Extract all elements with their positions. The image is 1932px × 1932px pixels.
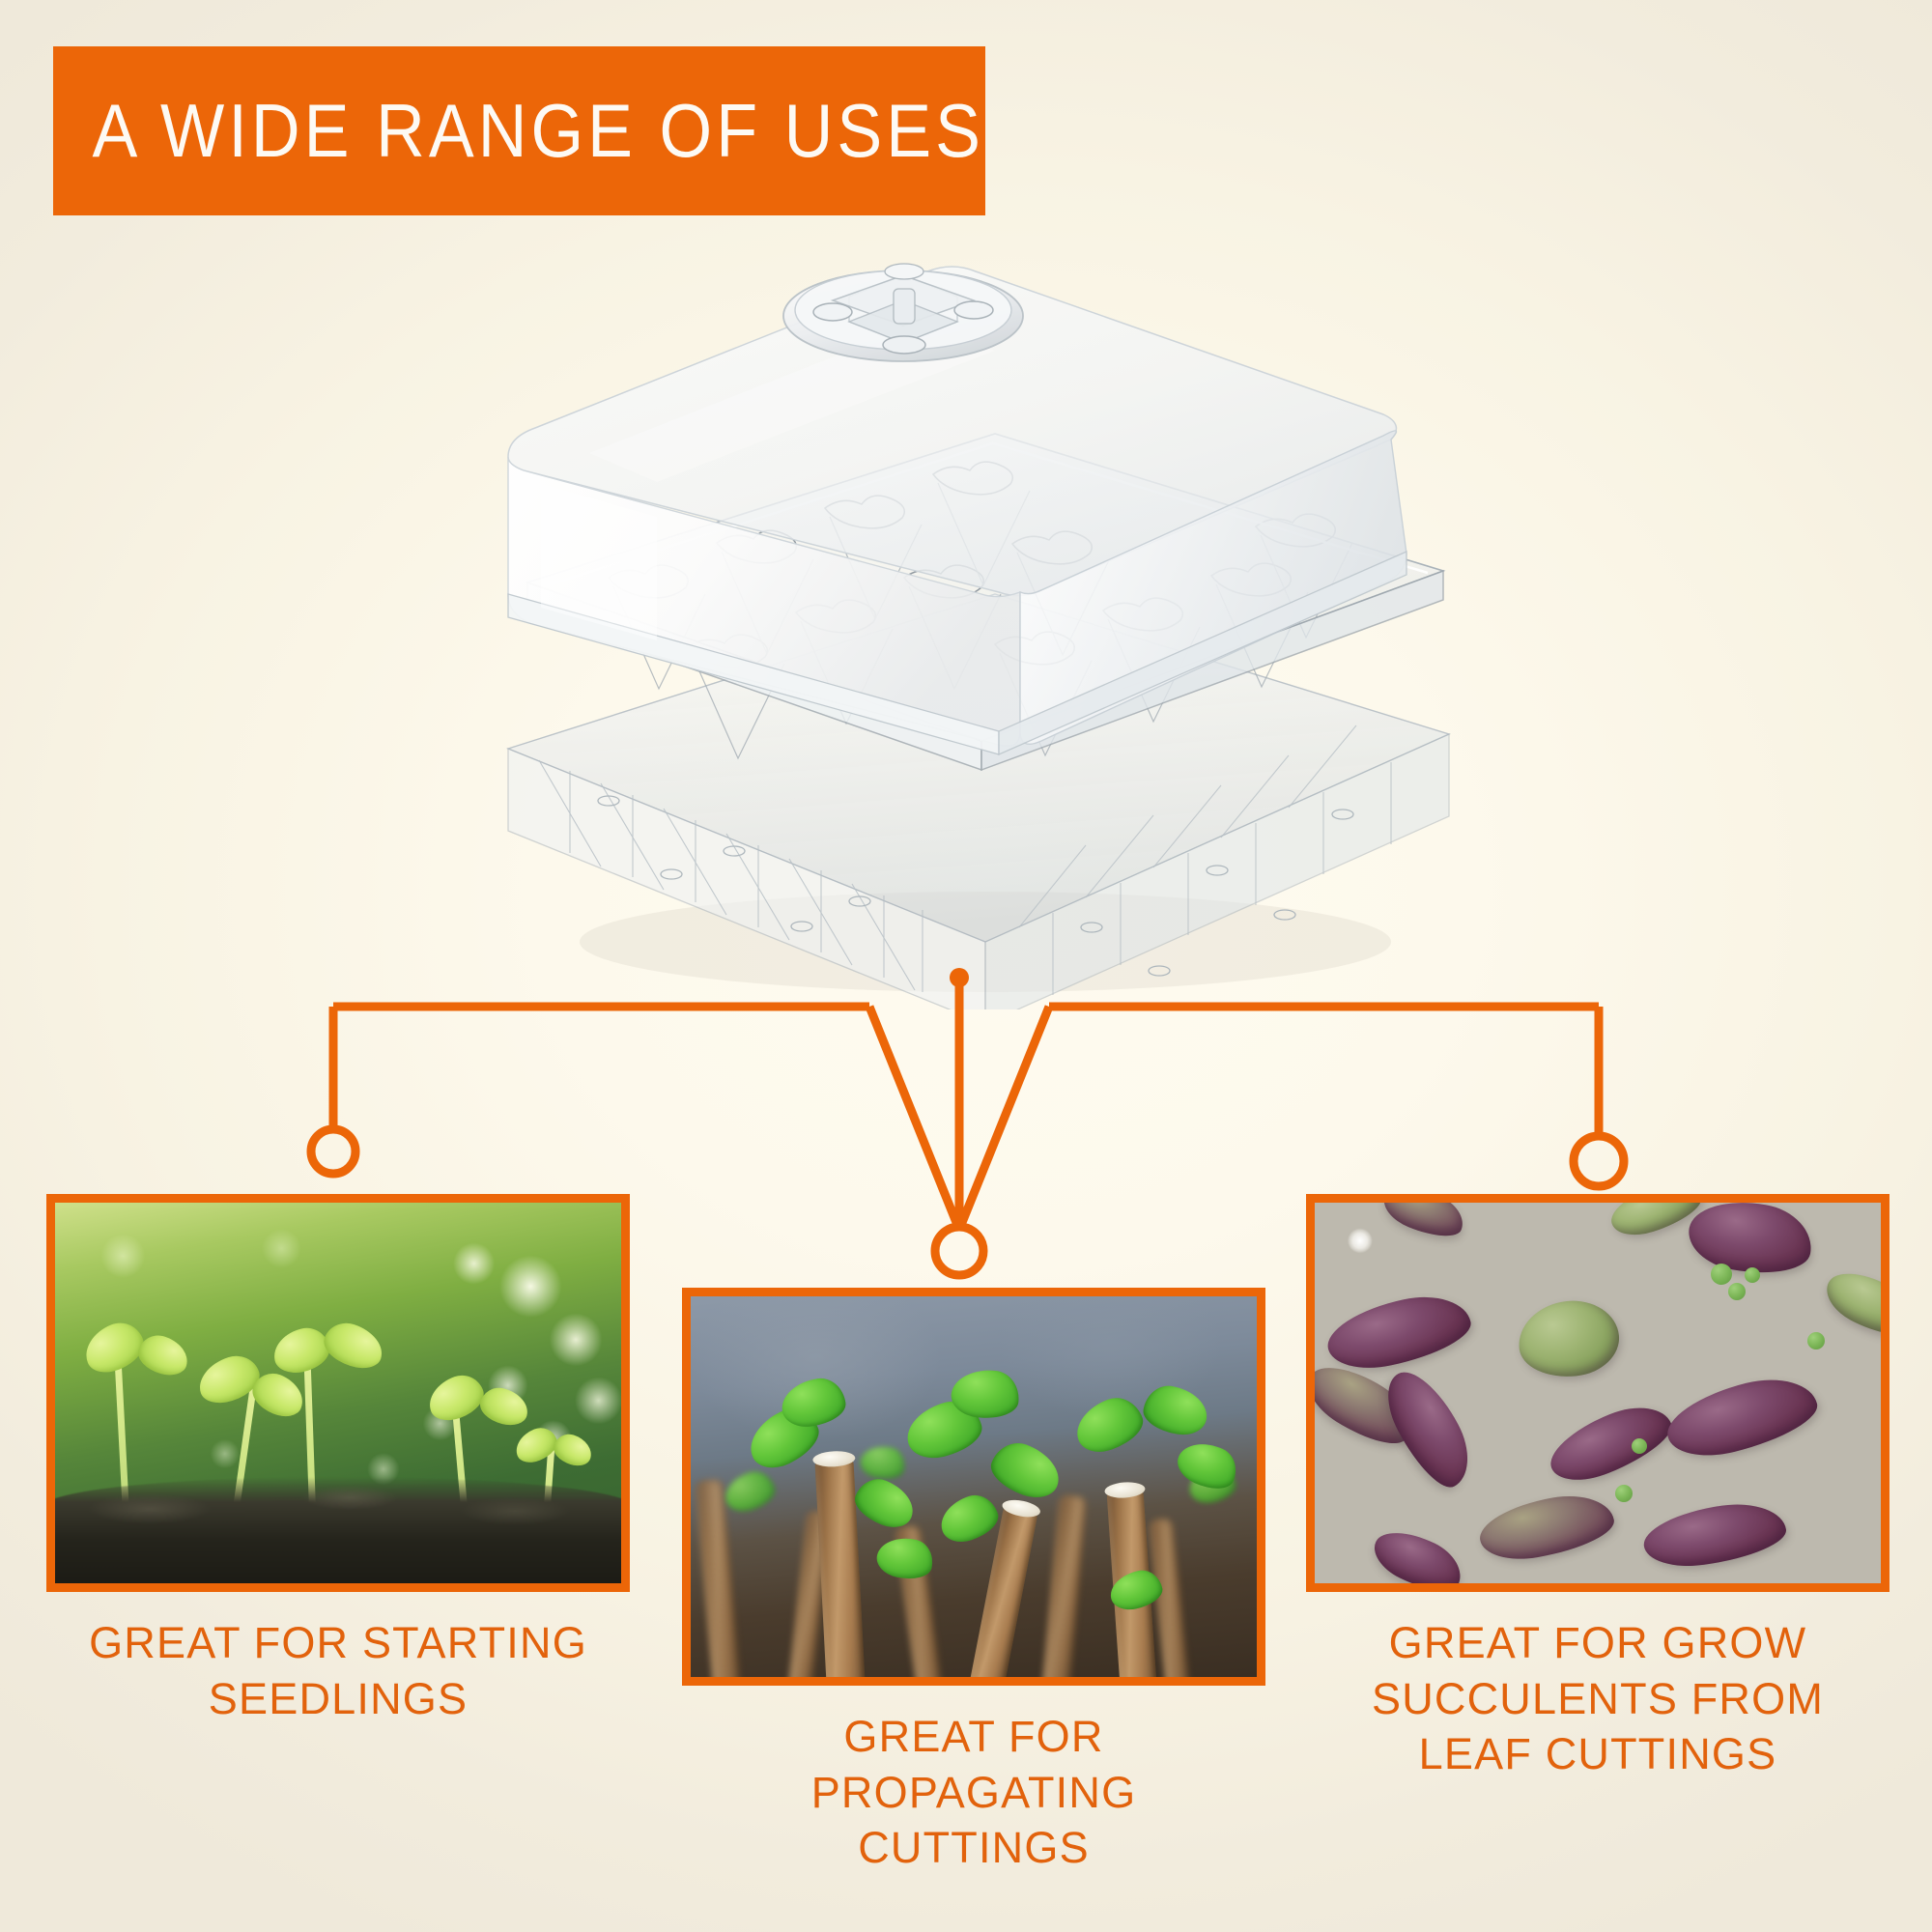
succulent-leaf [1321, 1288, 1476, 1378]
succulent-leaf [1661, 1368, 1824, 1466]
infographic-canvas: A WIDE RANGE OF USES [0, 0, 1932, 1932]
succulent-bud [1711, 1264, 1732, 1285]
soil [46, 1477, 630, 1591]
cuttings-scene [691, 1296, 1257, 1677]
product-image-seed-tray [415, 208, 1517, 1009]
caption-succulents: GREAT FOR GROW SUCCULENTS FROM LEAF CUTT… [1306, 1615, 1889, 1782]
succulent-leaf [1818, 1260, 1889, 1346]
callout-marker-seedlings [311, 1129, 355, 1174]
callout-marker-cuttings [935, 1227, 983, 1275]
photo-cuttings [682, 1288, 1265, 1686]
callout-card-seedlings: GREAT FOR STARTING SEEDLINGS [46, 1194, 630, 1726]
succulent-leaf [1366, 1520, 1469, 1592]
callout-marker-succulents [1574, 1136, 1624, 1186]
succulent-leaf [1475, 1489, 1618, 1567]
header-banner: A WIDE RANGE OF USES [53, 46, 985, 215]
succulent-bud [1615, 1485, 1633, 1502]
succulent-bud [1745, 1267, 1760, 1283]
photo-seedlings [46, 1194, 630, 1592]
photo-succulents [1306, 1194, 1889, 1592]
page-title: A WIDE RANGE OF USES [53, 87, 984, 175]
caption-seedlings: GREAT FOR STARTING SEEDLINGS [46, 1615, 630, 1726]
callout-card-succulents: GREAT FOR GROW SUCCULENTS FROM LEAF CUTT… [1306, 1194, 1889, 1782]
callout-card-cuttings: GREAT FOR PROPAGATING CUTTINGS [682, 1288, 1265, 1876]
succulent-leaf [1640, 1497, 1790, 1573]
caption-cuttings: GREAT FOR PROPAGATING CUTTINGS [682, 1709, 1265, 1876]
seedlings-scene [55, 1203, 621, 1583]
perlite-scene [1315, 1203, 1881, 1583]
succulent-leaf [1378, 1194, 1470, 1246]
succulent-bud [1728, 1283, 1746, 1300]
succulent-leaf [1542, 1394, 1680, 1492]
succulent-leaf [1515, 1296, 1623, 1381]
succulent-bud [1807, 1332, 1825, 1350]
